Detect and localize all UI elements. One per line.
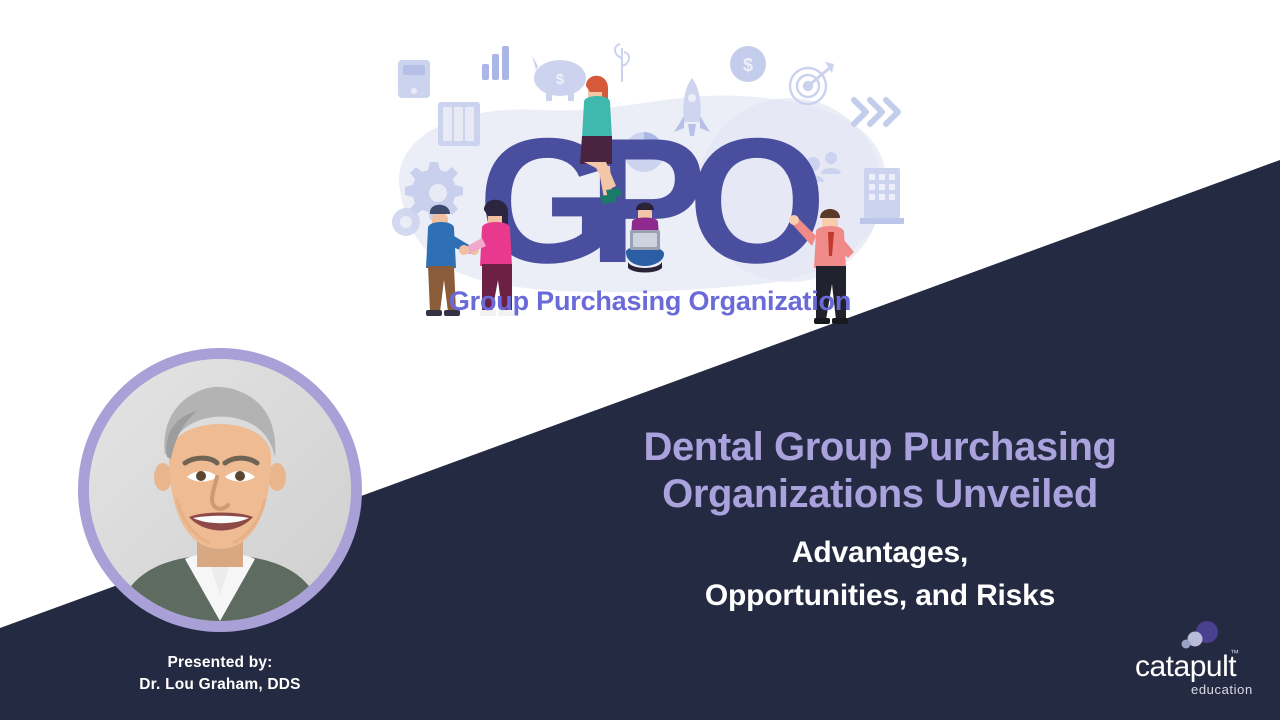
title-line-2: Organizations Unveiled: [530, 471, 1230, 518]
logo-tagline: education: [1191, 682, 1253, 697]
bar-chart-icon: [482, 46, 509, 80]
page-subtitle: Advantages, Opportunities, and Risks: [530, 532, 1230, 617]
presenter-name: Dr. Lou Graham, DDS: [60, 674, 380, 696]
subtitle-line-1: Advantages,: [530, 532, 1230, 575]
artwork-caption: Group Purchasing Organization: [370, 286, 930, 317]
avatar: [78, 348, 362, 632]
presented-by-label: Presented by:: [60, 652, 380, 674]
svg-text:$: $: [743, 55, 753, 75]
piggy-bank-icon: $: [532, 56, 586, 101]
catapult-education-logo: catapult ™ education: [1134, 620, 1256, 702]
title-line-1: Dental Group Purchasing: [530, 424, 1230, 471]
page-title: Dental Group Purchasing Organizations Un…: [530, 424, 1230, 518]
presented-by-block: Presented by: Dr. Lou Graham, DDS: [60, 652, 380, 697]
subtitle-line-2: Opportunities, and Risks: [530, 575, 1230, 618]
logo-bulb-icon: [1182, 621, 1219, 649]
presenter-portrait: [89, 359, 351, 621]
chevrons-right-icon: [854, 100, 898, 124]
tablet-icon: [398, 60, 430, 98]
presentation-slide: $: [0, 0, 1280, 720]
server-rack-icon: [438, 102, 480, 146]
antenna-icon: [615, 44, 629, 82]
title-block: Dental Group Purchasing Organizations Un…: [530, 424, 1230, 618]
logo-wordmark: catapult: [1135, 650, 1237, 683]
dollar-coin-icon: $: [730, 46, 766, 82]
logo-trademark: ™: [1230, 648, 1239, 658]
gpo-letter-o: O: [688, 101, 826, 300]
gear-icon: [392, 208, 420, 236]
office-building-icon: [860, 168, 904, 224]
target-dart-icon: [790, 62, 834, 104]
svg-text:$: $: [556, 71, 565, 88]
